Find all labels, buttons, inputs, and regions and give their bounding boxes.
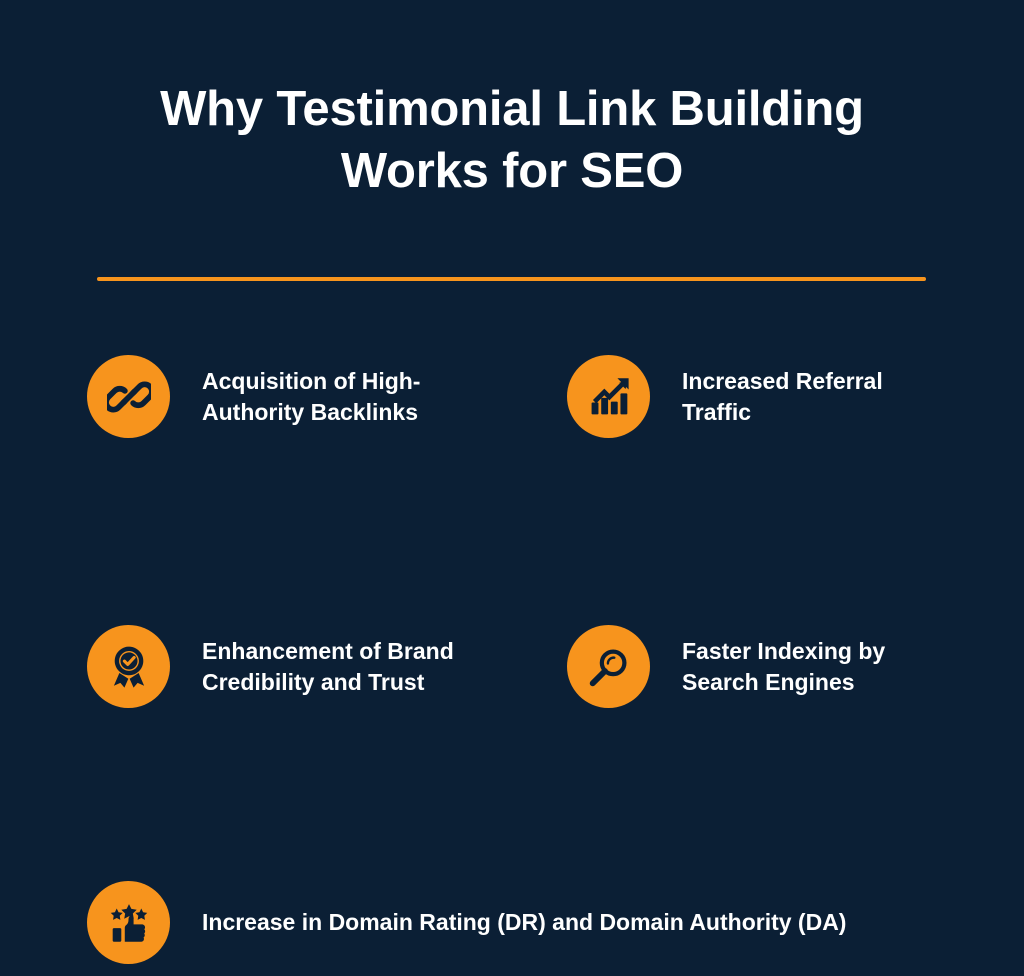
benefit-label-line-1: Acquisition of High- <box>202 368 420 394</box>
benefit-label-line-1: Increased Referral <box>682 368 883 394</box>
benefits-row: Acquisition of High-Authority Backlinks <box>0 355 1024 490</box>
benefit-label-line-1: Enhancement of Brand <box>202 638 454 664</box>
benefits-row: Increase in Domain Rating (DR) and Domai… <box>0 881 1024 976</box>
benefit-label-line-1: Faster Indexing by <box>682 638 885 664</box>
benefit-item-domain-rating: Increase in Domain Rating (DR) and Domai… <box>87 881 846 964</box>
benefits-row: Enhancement of BrandCredibility and Trus… <box>0 625 1024 753</box>
benefit-label: Faster Indexing bySearch Engines <box>682 636 885 698</box>
page-title-line-2: Works for SEO <box>341 144 683 198</box>
award-badge-check-icon <box>87 625 170 708</box>
chain-link-icon <box>87 355 170 438</box>
benefit-label: Enhancement of BrandCredibility and Trus… <box>202 636 454 698</box>
benefit-item-brand-credibility: Enhancement of BrandCredibility and Trus… <box>87 625 454 708</box>
benefit-item-backlinks: Acquisition of High-Authority Backlinks <box>87 355 420 438</box>
benefit-item-faster-indexing: Faster Indexing bySearch Engines <box>567 625 885 708</box>
thumbs-up-stars-icon <box>87 881 170 964</box>
benefit-label: Increased ReferralTraffic <box>682 366 883 428</box>
page-title-text: Why Testimonial Link BuildingWorks for S… <box>112 78 912 202</box>
magnifier-search-icon <box>567 625 650 708</box>
benefit-label: Acquisition of High-Authority Backlinks <box>202 366 420 428</box>
page-title-line-1: Why Testimonial Link Building <box>160 82 864 136</box>
benefit-label-line-2: Credibility and Trust <box>202 669 424 695</box>
page-title: Why Testimonial Link BuildingWorks for S… <box>112 78 912 202</box>
infographic-canvas: Why Testimonial Link BuildingWorks for S… <box>0 0 1024 797</box>
benefit-label-line-2: Search Engines <box>682 669 855 695</box>
benefit-label-line-2: Authority Backlinks <box>202 399 418 425</box>
benefits-grid: Acquisition of High-Authority Backlinks <box>0 355 1024 713</box>
benefit-label: Increase in Domain Rating (DR) and Domai… <box>202 907 846 938</box>
benefit-label-line-2: Traffic <box>682 399 751 425</box>
accent-divider <box>97 277 926 281</box>
growth-chart-icon <box>567 355 650 438</box>
benefit-item-referral-traffic: Increased ReferralTraffic <box>567 355 883 438</box>
